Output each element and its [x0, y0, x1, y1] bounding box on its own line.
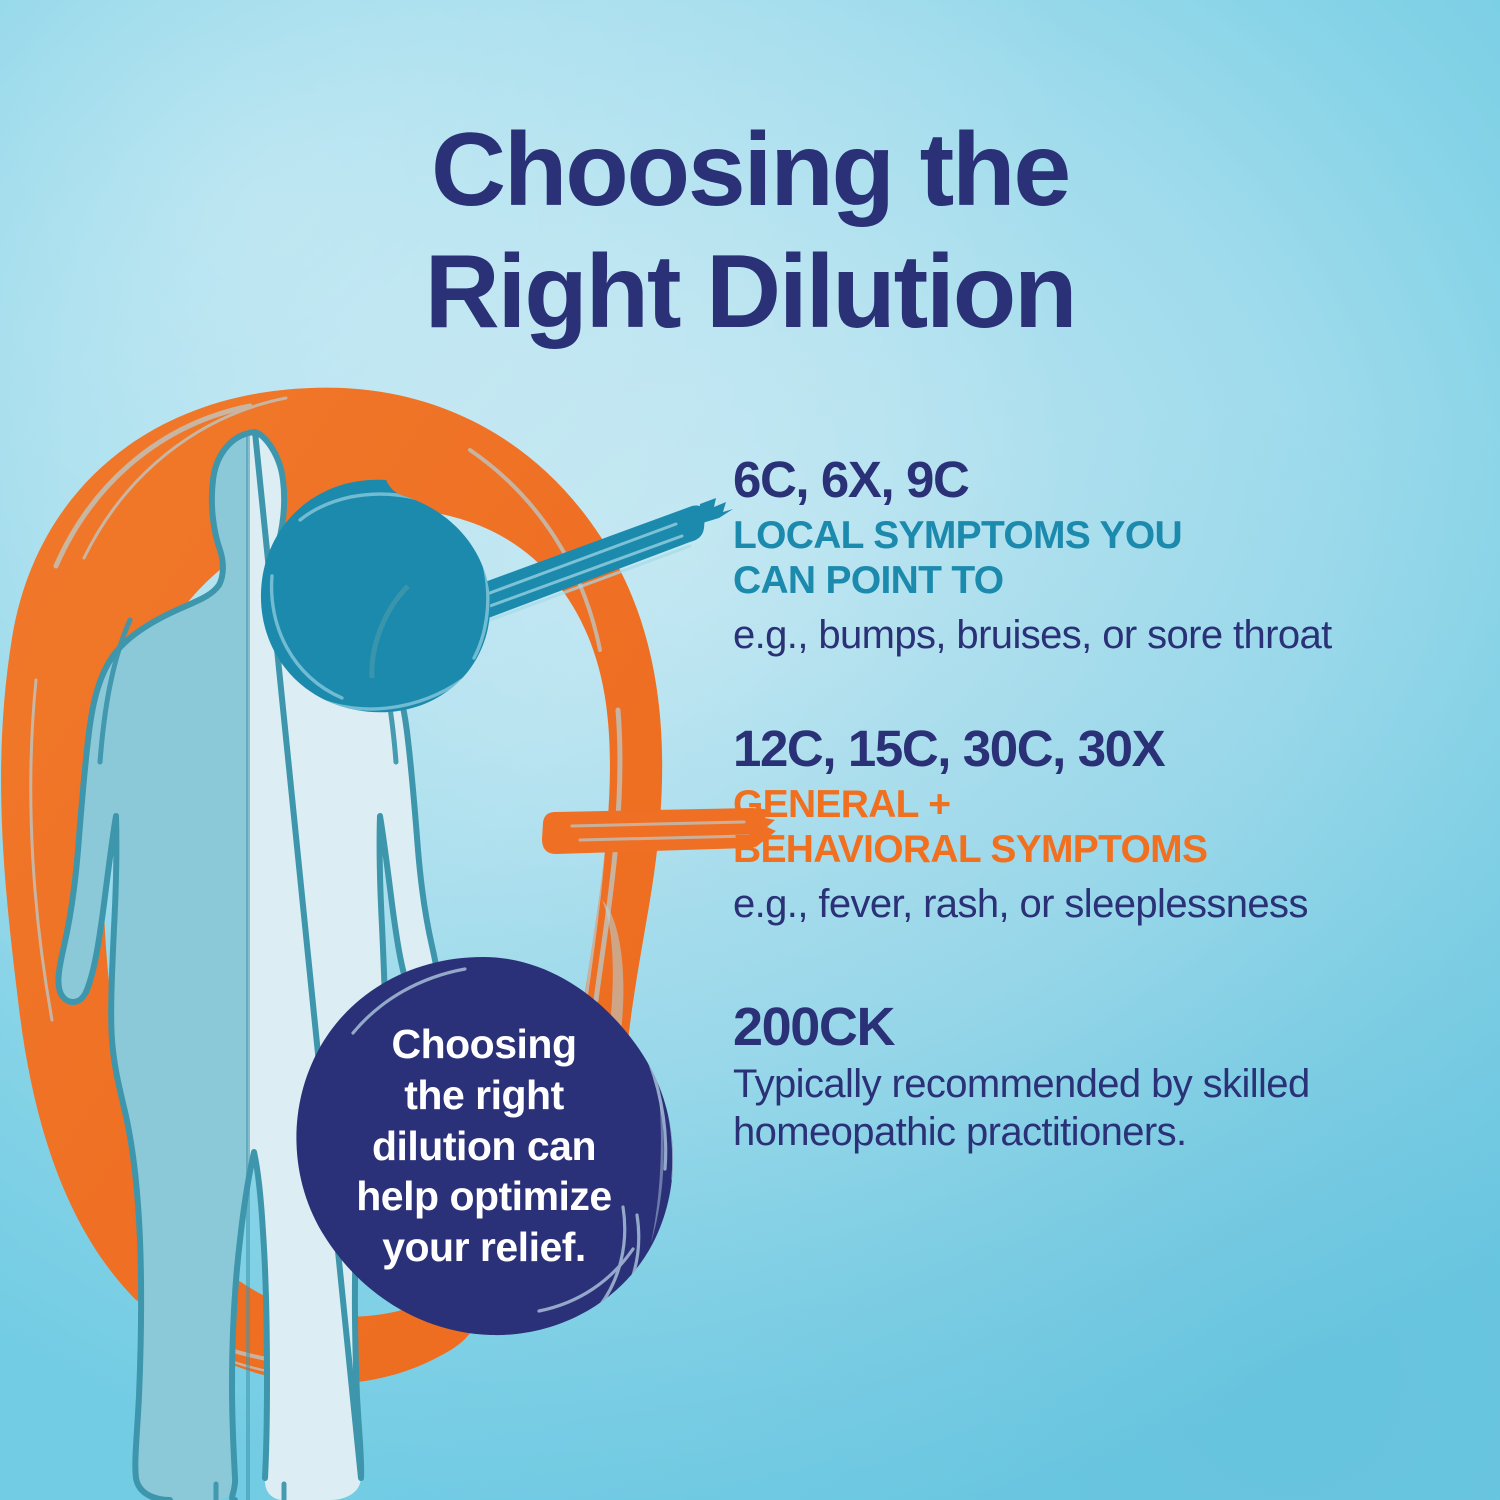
infographic-poster: Choosing the Right Dilution — [0, 0, 1500, 1500]
dilution-item-1: 6C, 6X, 9C LOCAL SYMPTOMS YOU CAN POINT … — [733, 452, 1463, 659]
dilution-example-3: Typically recommended by skilled homeopa… — [733, 1060, 1463, 1156]
badge-line-1: Choosing — [391, 1019, 576, 1070]
dilution-subtitle-1: LOCAL SYMPTOMS YOU CAN POINT TO — [733, 514, 1463, 603]
status-badge: Choosing the right dilution can help opt… — [293, 955, 675, 1337]
dilution-example-2: e.g., fever, rash, or sleeplessness — [733, 880, 1463, 928]
dilution-subtitle-1-line-1: LOCAL SYMPTOMS YOU — [733, 514, 1463, 558]
dilution-list: 6C, 6X, 9C LOCAL SYMPTOMS YOU CAN POINT … — [733, 452, 1463, 1156]
badge-line-4: help optimize — [356, 1171, 611, 1222]
dilution-example-1-line-1: e.g., bumps, bruises, or sore throat — [733, 611, 1463, 659]
dilution-example-1: e.g., bumps, bruises, or sore throat — [733, 611, 1463, 659]
dilution-subtitle-1-line-2: CAN POINT TO — [733, 559, 1463, 603]
badge-line-2: the right — [404, 1070, 563, 1121]
dilution-dose-3: 200CK — [733, 998, 1463, 1056]
page-title-line-1: Choosing the — [0, 110, 1500, 232]
badge-text: Choosing the right dilution can help opt… — [327, 985, 641, 1307]
dilution-dose-2: 12C, 15C, 30C, 30X — [733, 721, 1463, 776]
dilution-subtitle-2: GENERAL + BEHAVIORAL SYMPTOMS — [733, 783, 1463, 872]
page-title: Choosing the Right Dilution — [0, 110, 1500, 353]
dilution-subtitle-2-line-1: GENERAL + — [733, 783, 1463, 827]
page-title-line-2: Right Dilution — [0, 232, 1500, 354]
dilution-dose-1: 6C, 6X, 9C — [733, 452, 1463, 507]
dilution-item-3: 200CK Typically recommended by skilled h… — [733, 998, 1463, 1156]
badge-line-5: your relief. — [382, 1222, 586, 1273]
dilution-example-3-line-2: homeopathic practitioners. — [733, 1108, 1463, 1156]
badge-line-3: dilution can — [372, 1121, 596, 1172]
dilution-item-2: 12C, 15C, 30C, 30X GENERAL + BEHAVIORAL … — [733, 721, 1463, 928]
dilution-example-3-line-1: Typically recommended by skilled — [733, 1060, 1463, 1108]
dilution-subtitle-2-line-2: BEHAVIORAL SYMPTOMS — [733, 828, 1463, 872]
dilution-example-2-line-1: e.g., fever, rash, or sleeplessness — [733, 880, 1463, 928]
